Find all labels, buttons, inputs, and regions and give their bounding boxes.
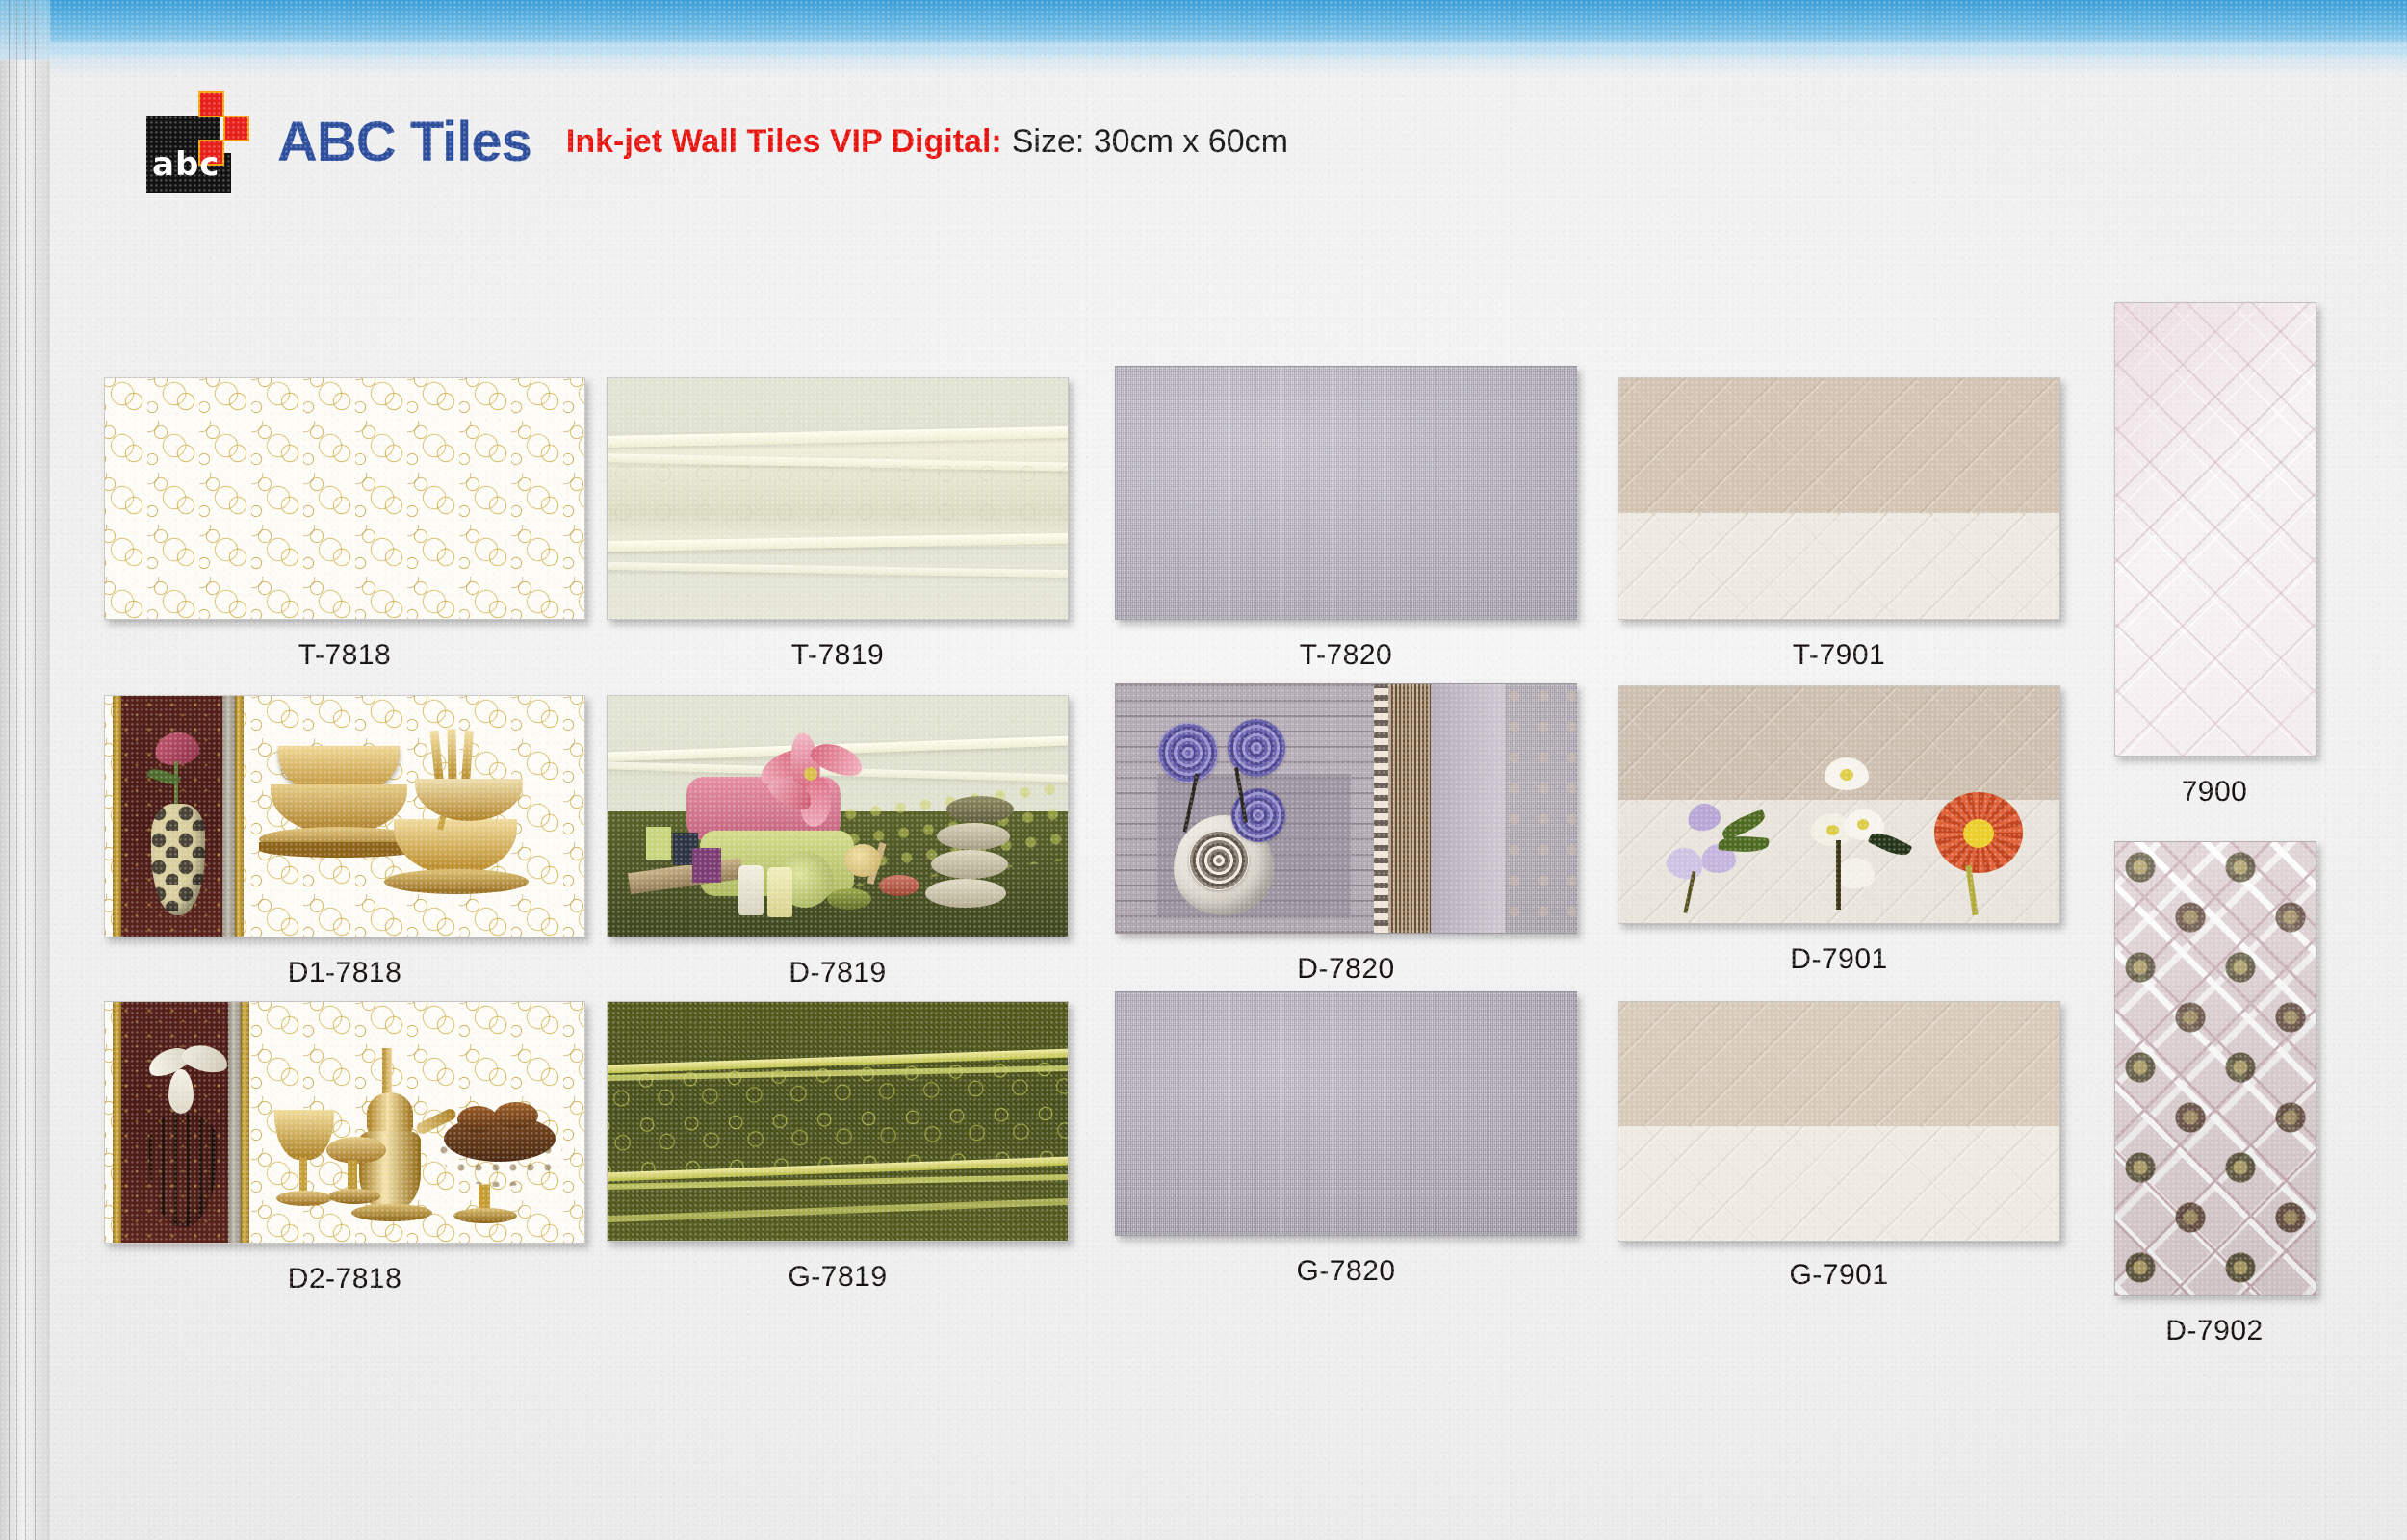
tile-swatch-d-7902[interactable]	[2114, 841, 2316, 1296]
tagline-product: Ink-jet Wall Tiles VIP Digital:	[566, 123, 1002, 161]
tile-swatch-t-7901[interactable]	[1618, 377, 2060, 620]
tile-caption: T-7901	[1618, 639, 2060, 672]
tile-swatch-g-7819[interactable]	[607, 1001, 1069, 1242]
tile-cell-g-7819[interactable]: G-7819	[607, 1001, 1069, 1242]
tile-cell-g-7820[interactable]: G-7820	[1115, 991, 1577, 1236]
tile-caption: D-7901	[1618, 943, 2060, 976]
book-spine	[0, 0, 50, 1540]
tile-swatch-g-7820[interactable]	[1115, 991, 1577, 1236]
tile-cell-t-7818[interactable]: T-7818	[104, 377, 585, 620]
tile-caption: D2-7818	[104, 1263, 585, 1296]
tile-cell-t-7901[interactable]: T-7901	[1618, 377, 2060, 620]
top-blue-band	[0, 0, 2407, 56]
tile-caption: G-7820	[1115, 1255, 1577, 1288]
tile-caption: G-7819	[607, 1261, 1069, 1294]
tile-caption: T-7819	[607, 639, 1069, 672]
tile-cell-d2-7818[interactable]: D2-7818	[104, 1001, 585, 1244]
logo-text: abc	[152, 145, 220, 184]
tile-swatch-d-7901[interactable]	[1618, 685, 2060, 924]
tile-swatch-7900[interactable]	[2114, 302, 2316, 757]
tile-caption: D-7820	[1115, 953, 1577, 986]
rose-flower	[1158, 723, 1218, 783]
tile-swatch-t-7818[interactable]	[104, 377, 585, 620]
abc-logo-icon: abc	[142, 90, 256, 193]
tile-swatch-d2-7818[interactable]	[104, 1001, 585, 1244]
tile-swatch-d-7820[interactable]	[1115, 683, 1577, 934]
tile-cell-d1-7818[interactable]: D1-7818	[104, 695, 585, 937]
tile-cell-t-7819[interactable]: T-7819	[607, 377, 1069, 620]
white-lily	[140, 1037, 236, 1123]
tile-swatch-d1-7818[interactable]	[104, 695, 585, 937]
catalog-page: abc ABC Tiles Ink-jet Wall Tiles VIP Dig…	[0, 0, 2407, 1540]
tile-cell-d-7820[interactable]: D-7820	[1115, 683, 1577, 934]
lavender-sprig	[1661, 798, 1796, 913]
tile-caption: T-7818	[104, 639, 585, 672]
brand-title: ABC Tiles	[277, 110, 531, 174]
jasmine-sprig	[1798, 757, 1923, 913]
tagline-size: Size: 30cm x 60cm	[1012, 123, 1288, 161]
tile-cell-g-7901[interactable]: G-7901	[1618, 1001, 2060, 1242]
tile-caption: D-7902	[2114, 1315, 2315, 1347]
tile-caption: T-7820	[1115, 639, 1577, 672]
tile-cell-d-7902[interactable]: D-7902	[2114, 841, 2355, 1296]
page-header: abc ABC Tiles Ink-jet Wall Tiles VIP Dig…	[142, 89, 1288, 194]
tile-cell-7900[interactable]: 7900	[2114, 302, 2355, 757]
tile-swatch-g-7901[interactable]	[1618, 1001, 2060, 1242]
tile-caption: G-7901	[1618, 1259, 2060, 1292]
tile-cell-d-7901[interactable]: D-7901	[1618, 685, 2060, 924]
tile-swatch-d-7819[interactable]	[607, 695, 1069, 937]
tile-caption: D-7819	[607, 957, 1069, 989]
lily-flower	[754, 731, 869, 823]
tile-swatch-t-7820[interactable]	[1115, 366, 1577, 620]
tile-swatch-t-7819[interactable]	[607, 377, 1069, 620]
tile-caption: 7900	[2114, 776, 2315, 808]
tile-cell-d-7819[interactable]: D-7819	[607, 695, 1069, 937]
tile-caption: D1-7818	[104, 957, 585, 989]
tile-cell-t-7820[interactable]: T-7820	[1115, 366, 1577, 620]
gerbera-flower	[1925, 792, 2040, 913]
